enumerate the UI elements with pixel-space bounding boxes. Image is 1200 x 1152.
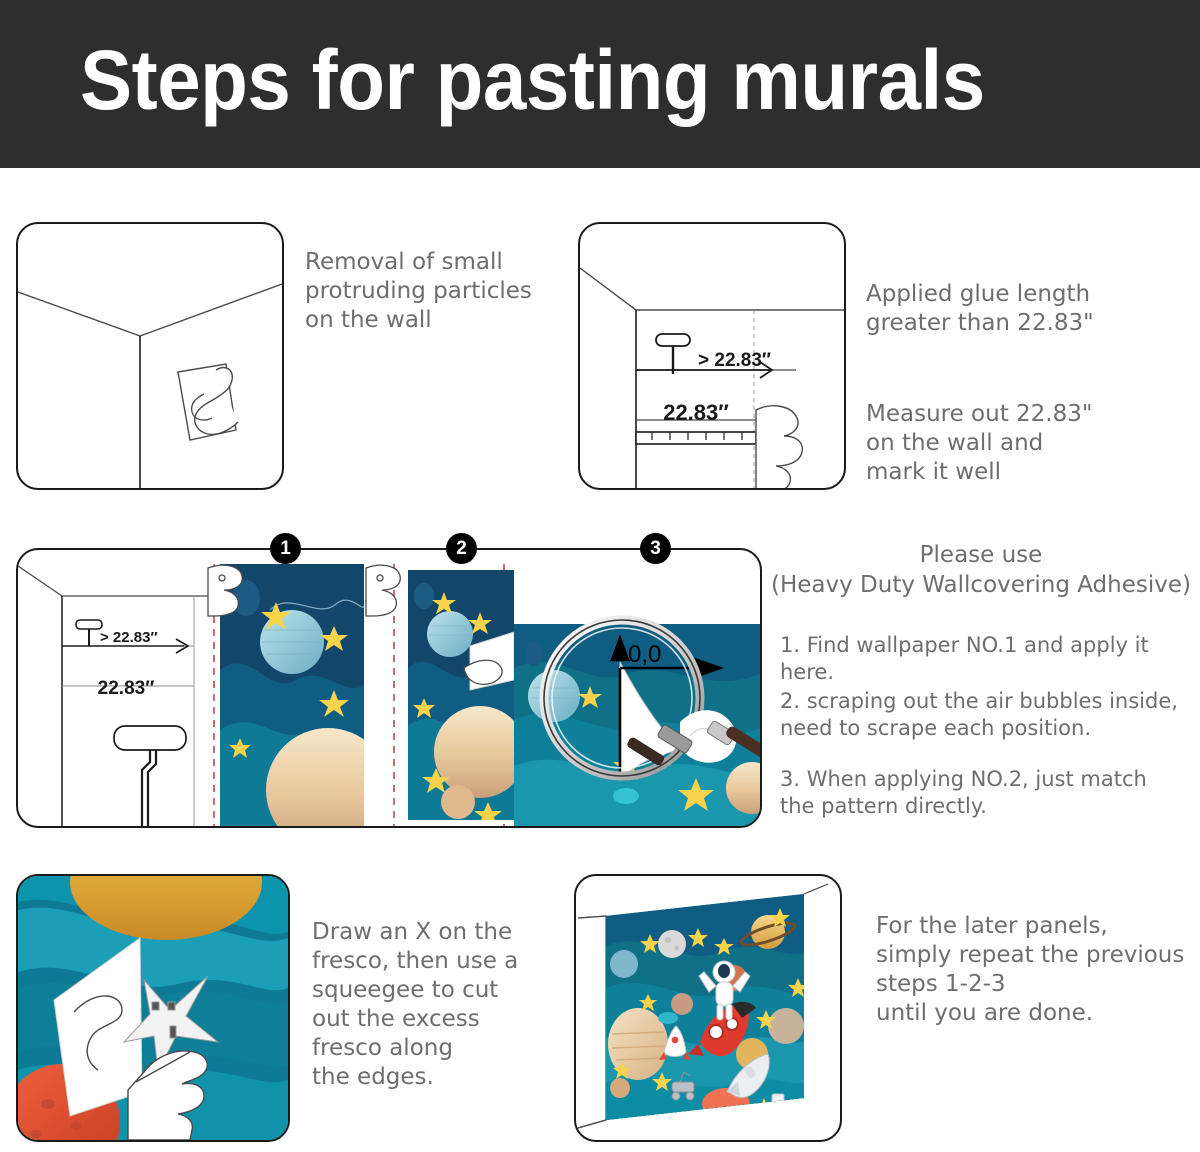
planet-icon xyxy=(610,1078,630,1098)
panel-measure-wall: 22.83″ > 22.83″ xyxy=(578,222,846,490)
header-bar: Steps for pasting murals xyxy=(0,0,1200,168)
tape-measure-icon xyxy=(636,432,756,444)
glue-length-label: > 22.83″ xyxy=(100,629,158,646)
caption-repeat-panels: For the later panels, simply repeat the … xyxy=(876,912,1200,1028)
squeegee-icon xyxy=(76,620,102,646)
instruction-item-2: 2. scraping out the air bubbles inside, … xyxy=(780,688,1180,742)
panel-apply-panels: > 22.83″ 22.83″ xyxy=(16,548,762,828)
caption-glue-length: Applied glue length greater than 22.83" xyxy=(866,280,1166,338)
caption-scrape-wall: Removal of small protruding particles on… xyxy=(305,248,555,335)
wall-measure-icon: 22.83″ > 22.83″ xyxy=(580,224,844,488)
squeegee-icon xyxy=(656,334,690,374)
panel-repeat-panels xyxy=(574,874,842,1142)
paint-roller-icon xyxy=(114,726,186,826)
finished-mural-icon xyxy=(576,876,840,1140)
panel-scrape-wall xyxy=(16,222,284,490)
instruction-item-3: 3. When applying NO.2, just match the pa… xyxy=(780,766,1180,820)
planet-icon xyxy=(768,1008,804,1044)
trim-edges-illustration xyxy=(18,876,288,1140)
hand-icon xyxy=(366,565,400,616)
mural-strip-1 xyxy=(220,564,390,826)
origin-label: 0,0 xyxy=(628,641,661,668)
measure-label: 22.83″ xyxy=(663,400,729,425)
step-badge-1: 1 xyxy=(270,533,301,564)
apply-panels-illustration: > 22.83″ 22.83″ xyxy=(18,550,760,826)
wall-corner-icon xyxy=(18,224,282,488)
planet-icon xyxy=(671,993,693,1015)
adhesive-heading: Please use (Heavy Duty Wallcovering Adhe… xyxy=(766,540,1196,600)
panel-trim-edges xyxy=(16,874,290,1142)
glue-length-label: > 22.83″ xyxy=(698,350,771,371)
flag-icon xyxy=(772,1094,784,1106)
mural-strip-2 xyxy=(408,570,526,826)
page-title: Steps for pasting murals xyxy=(80,32,985,128)
caption-trim-edges: Draw an X on the fresco, then use a sque… xyxy=(312,918,562,1092)
hand-with-scraper-icon xyxy=(178,364,238,440)
caption-measure-mark: Measure out 22.83" on the wall and mark … xyxy=(866,400,1176,487)
moon-icon xyxy=(658,930,686,958)
step-badge-2: 2 xyxy=(446,533,477,564)
hand-icon xyxy=(756,406,802,488)
instruction-sheet: Steps for pasting murals Removal of smal… xyxy=(0,0,1200,1152)
instruction-item-1: 1. Find wallpaper NO.1 and apply it here… xyxy=(780,632,1190,686)
step-badge-3: 3 xyxy=(640,533,671,564)
planet-icon xyxy=(610,950,638,978)
measure-label: 22.83″ xyxy=(98,678,155,699)
